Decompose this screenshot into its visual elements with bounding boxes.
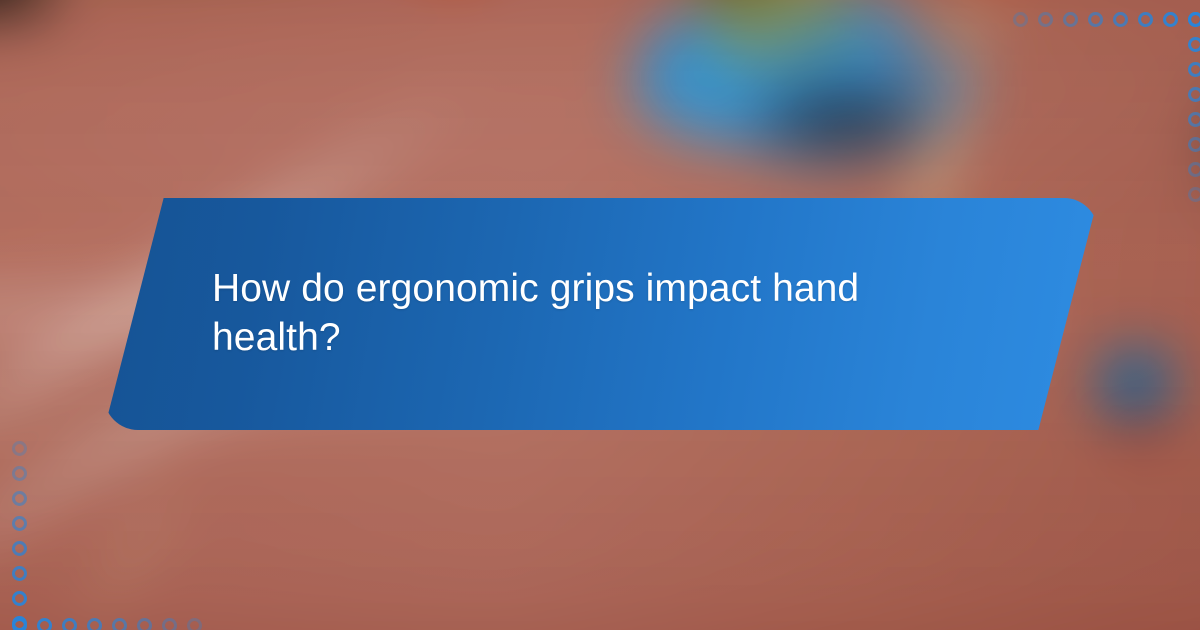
headline-text: How do ergonomic grips impact hand healt… bbox=[104, 198, 1098, 430]
headline-banner: How do ergonomic grips impact hand healt… bbox=[104, 198, 1098, 430]
social-card: How do ergonomic grips impact hand healt… bbox=[0, 0, 1200, 630]
